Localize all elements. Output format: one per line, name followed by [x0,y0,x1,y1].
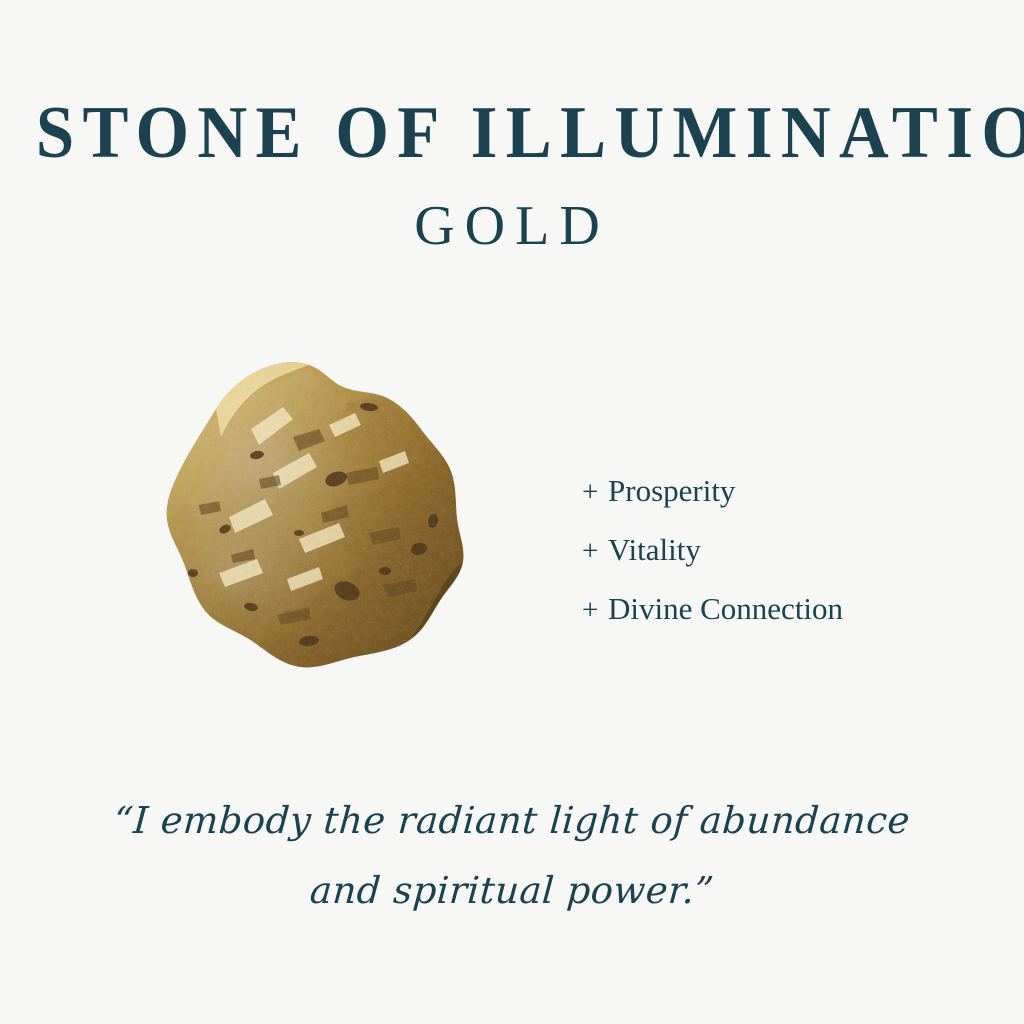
gold-nugget-icon [133,333,489,689]
attribute-list: + Prosperity + Vitality + Divine Connect… [582,462,982,639]
quote-line-2: and spiritual power.” [0,856,1024,926]
plus-icon: + [582,522,608,580]
attribute-label: Vitality [608,521,701,579]
quote-line-1: “I embody the radiant light of abundance [0,786,1024,856]
attribute-item-prosperity: + Prosperity [582,462,982,521]
attribute-label: Divine Connection [608,580,843,638]
plus-icon: + [582,463,608,521]
title-block: STONE OF ILLUMINATION GOLD [0,96,1024,254]
affirmation-quote: “I embody the radiant light of abundance… [0,786,1024,926]
page-title: STONE OF ILLUMINATION [36,96,988,170]
plus-icon: + [582,581,608,639]
attribute-item-divine-connection: + Divine Connection [582,580,982,639]
gold-nugget-image [133,333,489,689]
attribute-item-vitality: + Vitality [582,521,982,580]
stone-card: STONE OF ILLUMINATION GOLD [0,0,1024,1024]
attribute-label: Prosperity [608,462,735,520]
page-subtitle: GOLD [0,198,1024,254]
